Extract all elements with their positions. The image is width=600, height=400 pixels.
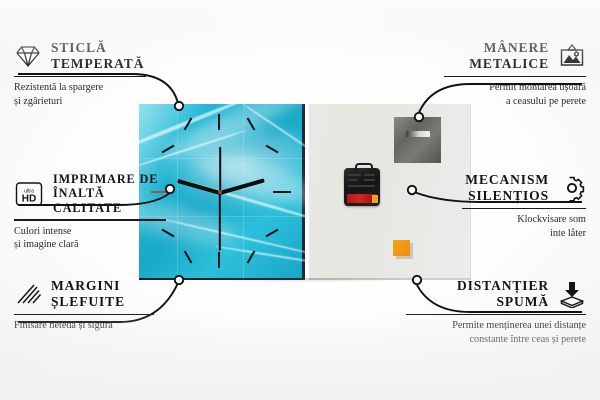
clock-tick [247, 250, 256, 263]
clock-tick [273, 191, 291, 193]
clock-tick [218, 252, 220, 268]
callout-title: MECANISM SILENȚIOS [465, 172, 549, 204]
callout-title: MARGINI ȘLEFUITE [51, 278, 125, 310]
mechanism-hanging-loop [355, 163, 373, 174]
callout-title: DISTANȚIER SPUMĂ [457, 278, 549, 310]
clock-second-hand-tail [219, 147, 221, 193]
callout-title: STICLĂ TEMPERATĂ [51, 40, 144, 72]
callout-tempered-glass[interactable]: STICLĂ TEMPERATĂ Rezistentă la spargere … [14, 40, 146, 108]
clock-tick [265, 229, 278, 238]
callout-subtitle: Permite menținerea unei distanțe constan… [406, 319, 586, 346]
callout-rule [14, 76, 146, 78]
callout-subtitle: Rezistentă la spargere și zgârieturi [14, 81, 146, 108]
callout-foam-spacer[interactable]: DISTANȚIER SPUMĂ Permite menținerea unei… [406, 278, 586, 346]
callout-rule [444, 76, 586, 78]
clock-tick [184, 250, 193, 263]
callout-rule [462, 208, 586, 210]
picture-hanger-icon [558, 42, 586, 70]
callout-subtitle: Culori intense și imagine clară [14, 225, 166, 252]
metal-hanger-plate [394, 117, 441, 163]
callout-metal-handles[interactable]: MÂNERE METALICE Permit montarea ușoară a… [444, 40, 586, 108]
callout-subtitle: Permit montarea ușoară a ceasului pe per… [444, 81, 586, 108]
callout-rule [14, 314, 154, 316]
polished-edges-icon [14, 280, 42, 308]
foam-spacer-pad [393, 240, 410, 256]
ultra-hd-icon: ultra HD [14, 180, 44, 208]
gear-icon [558, 174, 586, 202]
callout-rule [14, 219, 166, 221]
clock-minute-hand [177, 179, 220, 195]
svg-text:HD: HD [22, 193, 36, 204]
callout-polished-edges[interactable]: MARGINI ȘLEFUITE Finisare netedă și sigu… [14, 278, 154, 333]
diamond-icon [14, 42, 42, 70]
clock-tick [218, 114, 220, 130]
callout-high-quality-print[interactable]: ultra HD IMPRIMARE DE ÎNALTĂ CALITATE Cu… [14, 172, 166, 251]
product-image [139, 104, 471, 280]
foam-spacer-icon [558, 280, 586, 308]
callout-title: IMPRIMARE DE ÎNALTĂ CALITATE [53, 172, 166, 215]
battery-plus-terminal [372, 195, 378, 203]
callout-subtitle: Klockvisare som inte låter [462, 213, 586, 240]
clock-tick [265, 145, 278, 154]
callout-subtitle: Finisare netedă și sigură [14, 319, 154, 332]
hanger-slot [406, 131, 430, 137]
clock-pivot [218, 190, 222, 194]
clock-second-hand [219, 193, 221, 251]
callout-rule [406, 314, 586, 316]
clock-back-panel [309, 104, 471, 280]
callout-silent-mechanism[interactable]: MECANISM SILENȚIOS Klockvisare som inte … [462, 172, 586, 240]
infographic-canvas: STICLĂ TEMPERATĂ Rezistentă la spargere … [0, 0, 600, 400]
clock-mechanism [344, 168, 380, 206]
callout-title: MÂNERE METALICE [469, 40, 549, 72]
